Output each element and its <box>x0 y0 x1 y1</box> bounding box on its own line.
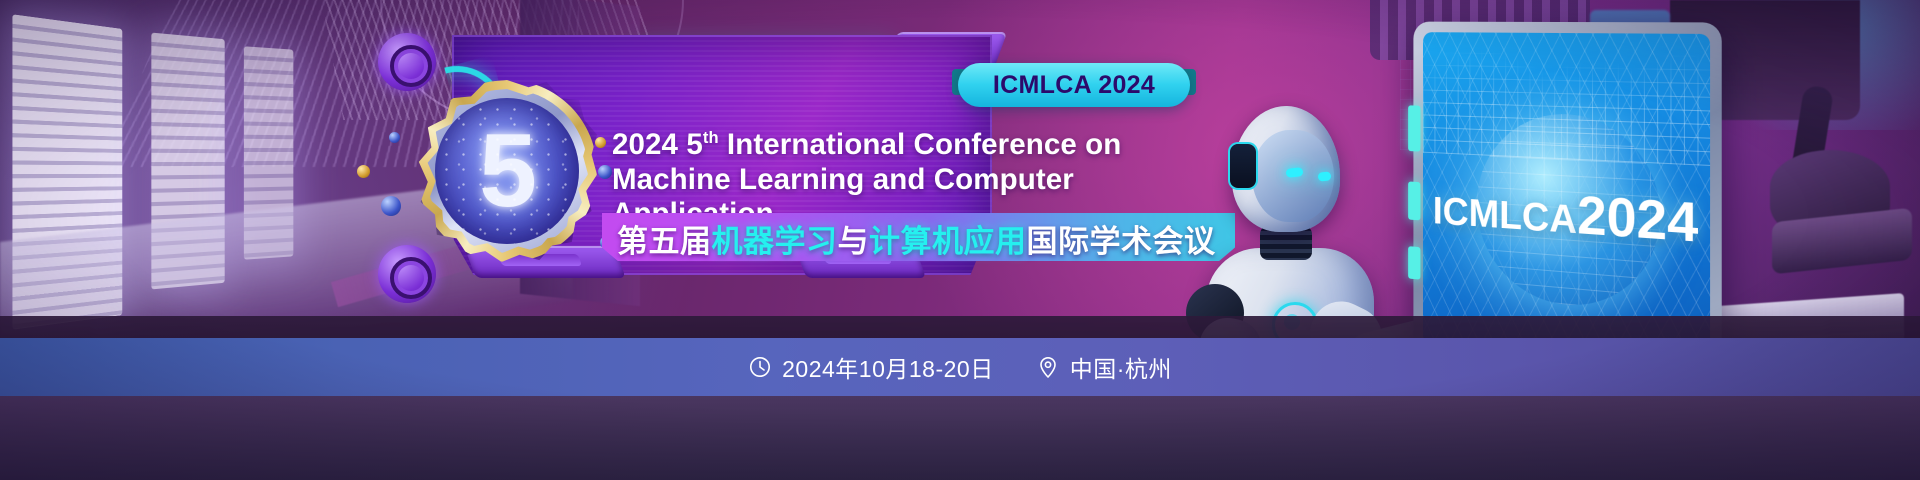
clock-icon <box>748 355 772 379</box>
title-ordinal-suffix: th <box>703 128 719 147</box>
event-location-text: 中国·杭州 <box>1070 350 1172 384</box>
display-side-tab-1 <box>1408 105 1420 151</box>
event-date-text: 2024年10月18-20日 <box>782 350 994 384</box>
cn-segment-1: 第五届 <box>617 216 712 261</box>
title-line-1-rest: International Conference on <box>719 128 1122 161</box>
decor-bead-blue-2 <box>389 132 400 143</box>
medallion-face: 5 <box>435 98 579 244</box>
title-line-1-prefix: 2024 5 <box>612 128 703 161</box>
conference-title-chinese: 第五届机器学习与计算机应用国际学术会议 <box>617 216 1216 260</box>
footer-bar <box>0 396 1920 480</box>
event-date: 2024年10月18-20日 <box>748 350 994 384</box>
display-side-tab-2 <box>1408 181 1420 220</box>
medallion-sparkles <box>435 98 579 244</box>
decor-bead-blue-3 <box>598 165 612 179</box>
ribbon-label: ICMLCA 2024 <box>993 71 1155 100</box>
acronym-ribbon-badge: ICMLCA 2024 <box>958 63 1190 107</box>
display-text-year: 2024 <box>1577 185 1698 254</box>
event-info-row: 2024年10月18-20日 中国·杭州 <box>0 338 1920 396</box>
cn-segment-2: 机器学习 <box>712 216 838 261</box>
decor-bead-blue-1 <box>381 196 401 216</box>
cn-segment-4: 计算机应用 <box>869 216 1027 261</box>
decor-bead-gold-1 <box>357 165 370 178</box>
location-pin-icon <box>1036 355 1060 379</box>
decor-bead-gold-2 <box>595 137 606 148</box>
cn-segment-3: 与 <box>838 216 870 261</box>
anniversary-medallion: 5 <box>417 80 597 262</box>
conference-banner: 5 2024 5th International Conference on M… <box>0 0 1920 480</box>
robot-ear-module <box>1230 144 1256 188</box>
display-side-tab-3 <box>1408 246 1420 279</box>
display-text-acronym: ICMLCA <box>1433 190 1577 243</box>
display-terrain-mesh <box>1423 32 1710 166</box>
ribbon-body: ICMLCA 2024 <box>958 63 1190 107</box>
event-location: 中国·杭州 <box>1036 350 1172 384</box>
